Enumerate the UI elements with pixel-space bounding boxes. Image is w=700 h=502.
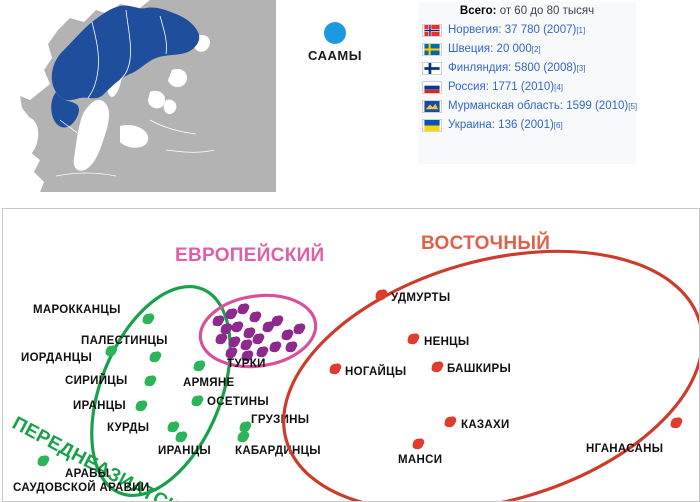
population-country-list: Норвегия: 37 780 (2007)[1]Швеция: 20 000… [418, 21, 636, 135]
point-label: МАРОККАНЦЫ [33, 304, 121, 316]
top-info-panel: СААМЫ Всего: от 60 до 80 тысяч Норвегия:… [0, 0, 700, 200]
population-row-text[interactable]: Швеция: 20 000 [448, 40, 532, 59]
map-svg [0, 0, 276, 192]
population-row: Швеция: 20 000[2] [418, 40, 636, 59]
population-row-text[interactable]: Украина: 136 (2001) [448, 116, 554, 135]
population-row-text[interactable]: Финляндия: 5800 (2008) [448, 59, 577, 78]
point-label: СИРИЙЦЫ [65, 374, 128, 387]
population-row: Норвегия: 37 780 (2007)[1] [418, 21, 636, 40]
citation-ref[interactable]: [2] [532, 40, 541, 59]
point-label: БАШКИРЫ [447, 363, 511, 375]
flag-russia-icon [422, 81, 442, 94]
population-row-text[interactable]: Мурманская область: 1599 (2010) [448, 97, 628, 116]
point-label: АРАБЫ [65, 468, 109, 480]
scatter-svg: ПЕРЕДНЕАЗИАТСКИЙМАРОККАНЦЫПАЛЕСТИНЦЫИОРД… [3, 209, 699, 501]
population-total-row: Всего: от 60 до 80 тысяч [418, 2, 636, 21]
sami-settlement-map [0, 0, 276, 192]
sami-legend-label: СААМЫ [308, 48, 362, 63]
point-label: ОСЕТИНЫ [207, 396, 269, 408]
flag-sweden-icon [422, 43, 442, 56]
point-label: ТУРКИ [227, 358, 266, 370]
population-row: Россия: 1771 (2010)[4] [418, 78, 636, 97]
point-label: КАЗАХИ [461, 419, 510, 431]
point-label: ИОРДАНЦЫ [21, 352, 92, 364]
flag-finland-icon [422, 62, 442, 75]
cluster-title-ЕВРОПЕЙСКИЙ: ЕВРОПЕЙСКИЙ [175, 244, 325, 266]
point-label: УДМУРТЫ [391, 292, 450, 304]
flag-norway-icon [422, 24, 442, 37]
citation-ref[interactable]: [4] [554, 78, 563, 97]
point-label: ГРУЗИНЫ [251, 414, 309, 426]
point-label: НЕНЦЫ [424, 336, 469, 348]
point-label: ИРАНЦЫ [73, 400, 126, 412]
population-row-text[interactable]: Норвегия: 37 780 (2007) [448, 21, 576, 40]
population-row: Украина: 136 (2001)[6] [418, 116, 636, 135]
sami-legend: СААМЫ [290, 22, 380, 74]
point-label: ПАЛЕСТИНЦЫ [81, 335, 168, 347]
point-label: МАНСИ [398, 454, 442, 466]
anthropological-scatter-chart: ПЕРЕДНЕАЗИАТСКИЙМАРОККАНЦЫПАЛЕСТИНЦЫИОРД… [2, 208, 700, 502]
population-total-value: от 60 до 80 тысяч [500, 5, 594, 17]
citation-ref[interactable]: [3] [577, 59, 586, 78]
population-row: Мурманская область: 1599 (2010)[5] [418, 97, 636, 116]
citation-ref[interactable]: [1] [576, 21, 585, 40]
point-label: АРМЯНЕ [183, 377, 234, 389]
point-label: КАБАРДИНЦЫ [235, 445, 321, 457]
population-total-prefix: Всего: [460, 5, 497, 17]
cluster-title-ВОСТОЧНЫЙ: ВОСТОЧНЫЙ [421, 232, 550, 254]
point-label: ИРАНЦЫ [158, 445, 211, 457]
point-label: НОГАЙЦЫ [345, 365, 406, 378]
citation-ref[interactable]: [6] [554, 116, 563, 135]
blue-circle-icon [324, 22, 346, 44]
population-row: Финляндия: 5800 (2008)[3] [418, 59, 636, 78]
flag-ukraine-icon [422, 119, 442, 132]
population-row-text[interactable]: Россия: 1771 (2010) [448, 78, 554, 97]
flag-murmansk-icon [422, 100, 442, 113]
point-label-extra: САУДОВСКОЙ АРАВИИ [13, 481, 149, 494]
citation-ref[interactable]: [5] [628, 97, 637, 116]
point-label: НГАНАСАНЫ [586, 443, 663, 455]
population-infobox: Всего: от 60 до 80 тысяч Норвегия: 37 78… [418, 2, 636, 164]
point-label: КУРДЫ [107, 422, 149, 434]
